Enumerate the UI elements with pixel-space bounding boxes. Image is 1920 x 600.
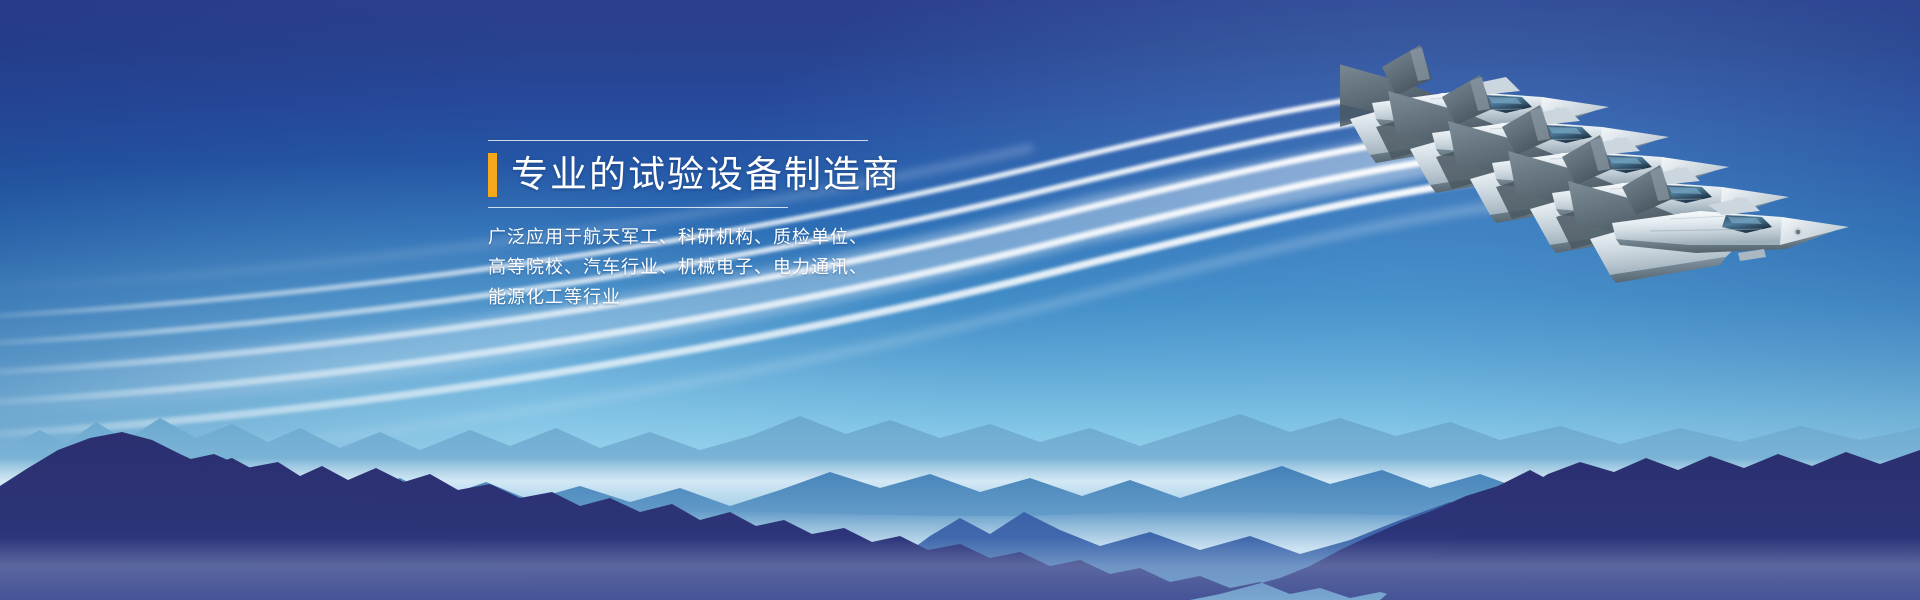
subtitle-line-2: 高等院校、汽车行业、机械电子、电力通讯、: [488, 252, 918, 282]
mist-band-low: [0, 538, 1920, 600]
hero-banner: 专业的试验设备制造商 广泛应用于航天军工、科研机构、质检单位、 高等院校、汽车行…: [0, 0, 1920, 600]
jet-formation: [1340, 35, 1920, 325]
page-title: 专业的试验设备制造商: [511, 153, 901, 197]
hero-text-block: 专业的试验设备制造商 广泛应用于航天军工、科研机构、质检单位、 高等院校、汽车行…: [488, 140, 918, 312]
title-row: 专业的试验设备制造商: [488, 153, 918, 197]
rule-top: [488, 140, 868, 141]
subtitle-line-1: 广泛应用于航天军工、科研机构、质检单位、: [488, 222, 918, 252]
subtitle-line-3: 能源化工等行业: [488, 282, 918, 312]
subtitle-block: 广泛应用于航天军工、科研机构、质检单位、 高等院校、汽车行业、机械电子、电力通讯…: [488, 222, 918, 312]
mountain-range: [0, 370, 1920, 600]
rule-bottom: [488, 207, 788, 208]
accent-bar-icon: [488, 153, 497, 197]
